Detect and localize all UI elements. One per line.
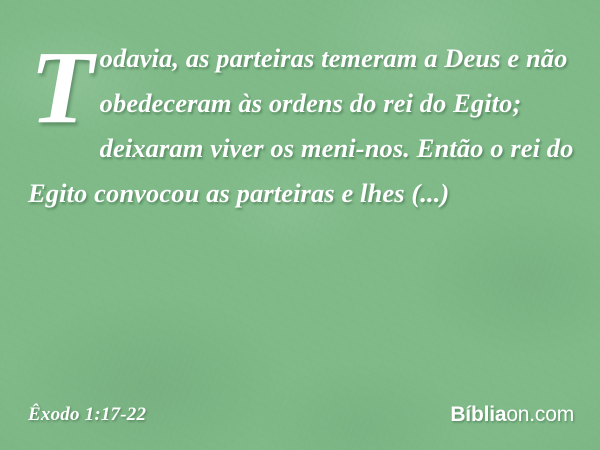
verse-text: Todavia, as parteiras temeram a Deus e n… [28, 36, 574, 216]
bibliaon-logo[interactable]: Bíbliaon.com [450, 404, 574, 425]
verse-reference: Êxodo 1:17-22 [28, 404, 146, 426]
logo-domain-suffix: on.com [506, 403, 574, 426]
bible-verse-card: Todavia, as parteiras temeram a Deus e n… [0, 0, 600, 450]
verse-body-text: odavia, as parteiras temeram a Deus e nã… [28, 43, 573, 208]
drop-cap-letter: T [28, 38, 100, 129]
card-footer: Êxodo 1:17-22 Bíbliaon.com [0, 390, 600, 450]
verse-quote-block: Todavia, as parteiras temeram a Deus e n… [28, 36, 574, 216]
logo-brand-word: Bíblia [450, 403, 506, 426]
